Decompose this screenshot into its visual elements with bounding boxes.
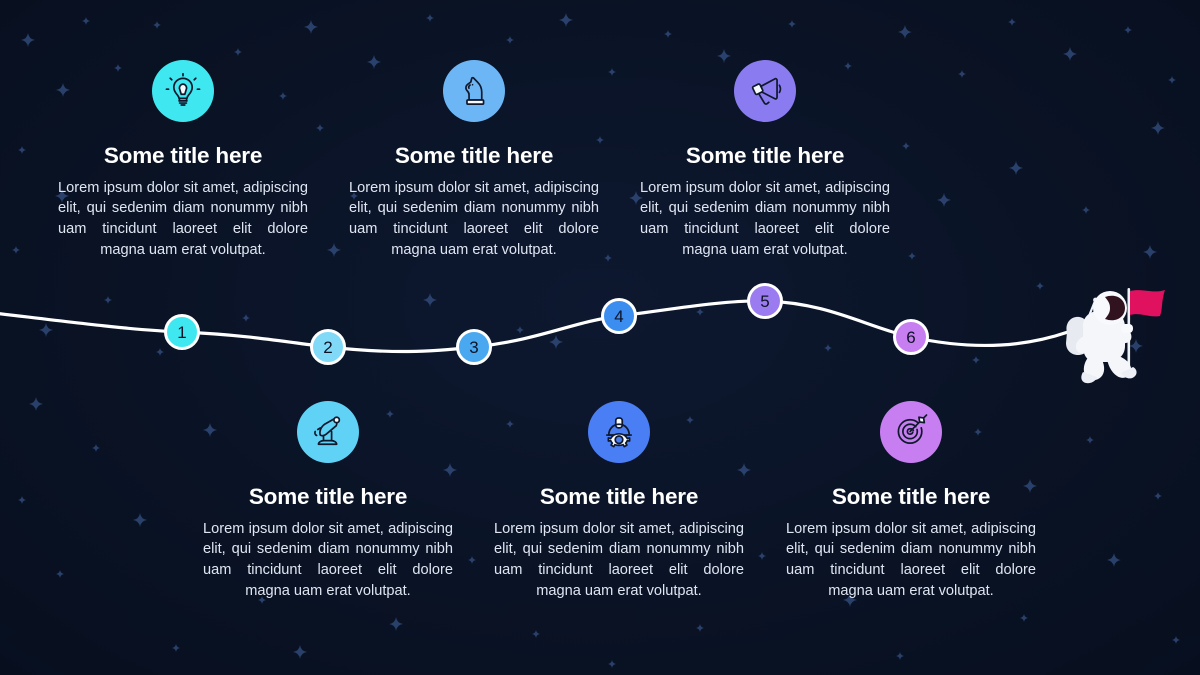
timeline-node-2[interactable]: 2 (310, 329, 346, 365)
card-3-icon-badge[interactable] (734, 60, 796, 122)
card-6-body: Lorem ipsum dolor sit amet, adipiscing e… (786, 519, 1036, 602)
card-4: Some title here Lorem ipsum dolor sit am… (203, 401, 453, 602)
card-4-title: Some title here (249, 485, 407, 510)
card-5: Some title here Lorem ipsum dolor sit am… (494, 401, 744, 602)
timeline-node-5[interactable]: 5 (747, 283, 783, 319)
card-1-icon-badge[interactable] (152, 60, 214, 122)
card-2-body: Lorem ipsum dolor sit amet, adipiscing e… (349, 178, 599, 261)
card-4-icon-badge[interactable] (297, 401, 359, 463)
card-5-body: Lorem ipsum dolor sit amet, adipiscing e… (494, 519, 744, 602)
lightbulb-icon (165, 73, 201, 109)
node-label: 1 (177, 324, 186, 341)
megaphone-icon (747, 73, 783, 109)
timeline-node-3[interactable]: 3 (456, 329, 492, 365)
card-2: Some title here Lorem ipsum dolor sit am… (349, 60, 599, 261)
card-1-body: Lorem ipsum dolor sit amet, adipiscing e… (58, 178, 308, 261)
card-6-icon-badge[interactable] (880, 401, 942, 463)
chess-knight-icon (456, 73, 492, 109)
card-1-title: Some title here (104, 144, 262, 169)
card-1: Some title here Lorem ipsum dolor sit am… (58, 60, 308, 261)
card-3-title: Some title here (686, 144, 844, 169)
card-3: Some title here Lorem ipsum dolor sit am… (640, 60, 890, 261)
card-2-icon-badge[interactable] (443, 60, 505, 122)
card-5-icon-badge[interactable] (588, 401, 650, 463)
timeline-node-4[interactable]: 4 (601, 298, 637, 334)
node-label: 3 (469, 339, 478, 356)
timeline-node-1[interactable]: 1 (164, 314, 200, 350)
card-3-body: Lorem ipsum dolor sit amet, adipiscing e… (640, 178, 890, 261)
node-label: 2 (323, 339, 332, 356)
node-label: 4 (614, 308, 623, 325)
node-label: 6 (906, 329, 915, 346)
hardhat-gear-icon (601, 414, 637, 450)
card-4-body: Lorem ipsum dolor sit amet, adipiscing e… (203, 519, 453, 602)
card-6: Some title here Lorem ipsum dolor sit am… (786, 401, 1036, 602)
astronaut-with-flag (1055, 280, 1175, 390)
timeline-node-6[interactable]: 6 (893, 319, 929, 355)
card-2-title: Some title here (395, 144, 553, 169)
card-6-title: Some title here (832, 485, 990, 510)
telescope-icon (310, 414, 346, 450)
infographic-slide: 1 2 3 4 5 6 Some title h (0, 0, 1200, 675)
target-dart-icon (893, 414, 929, 450)
card-5-title: Some title here (540, 485, 698, 510)
node-label: 5 (760, 293, 769, 310)
